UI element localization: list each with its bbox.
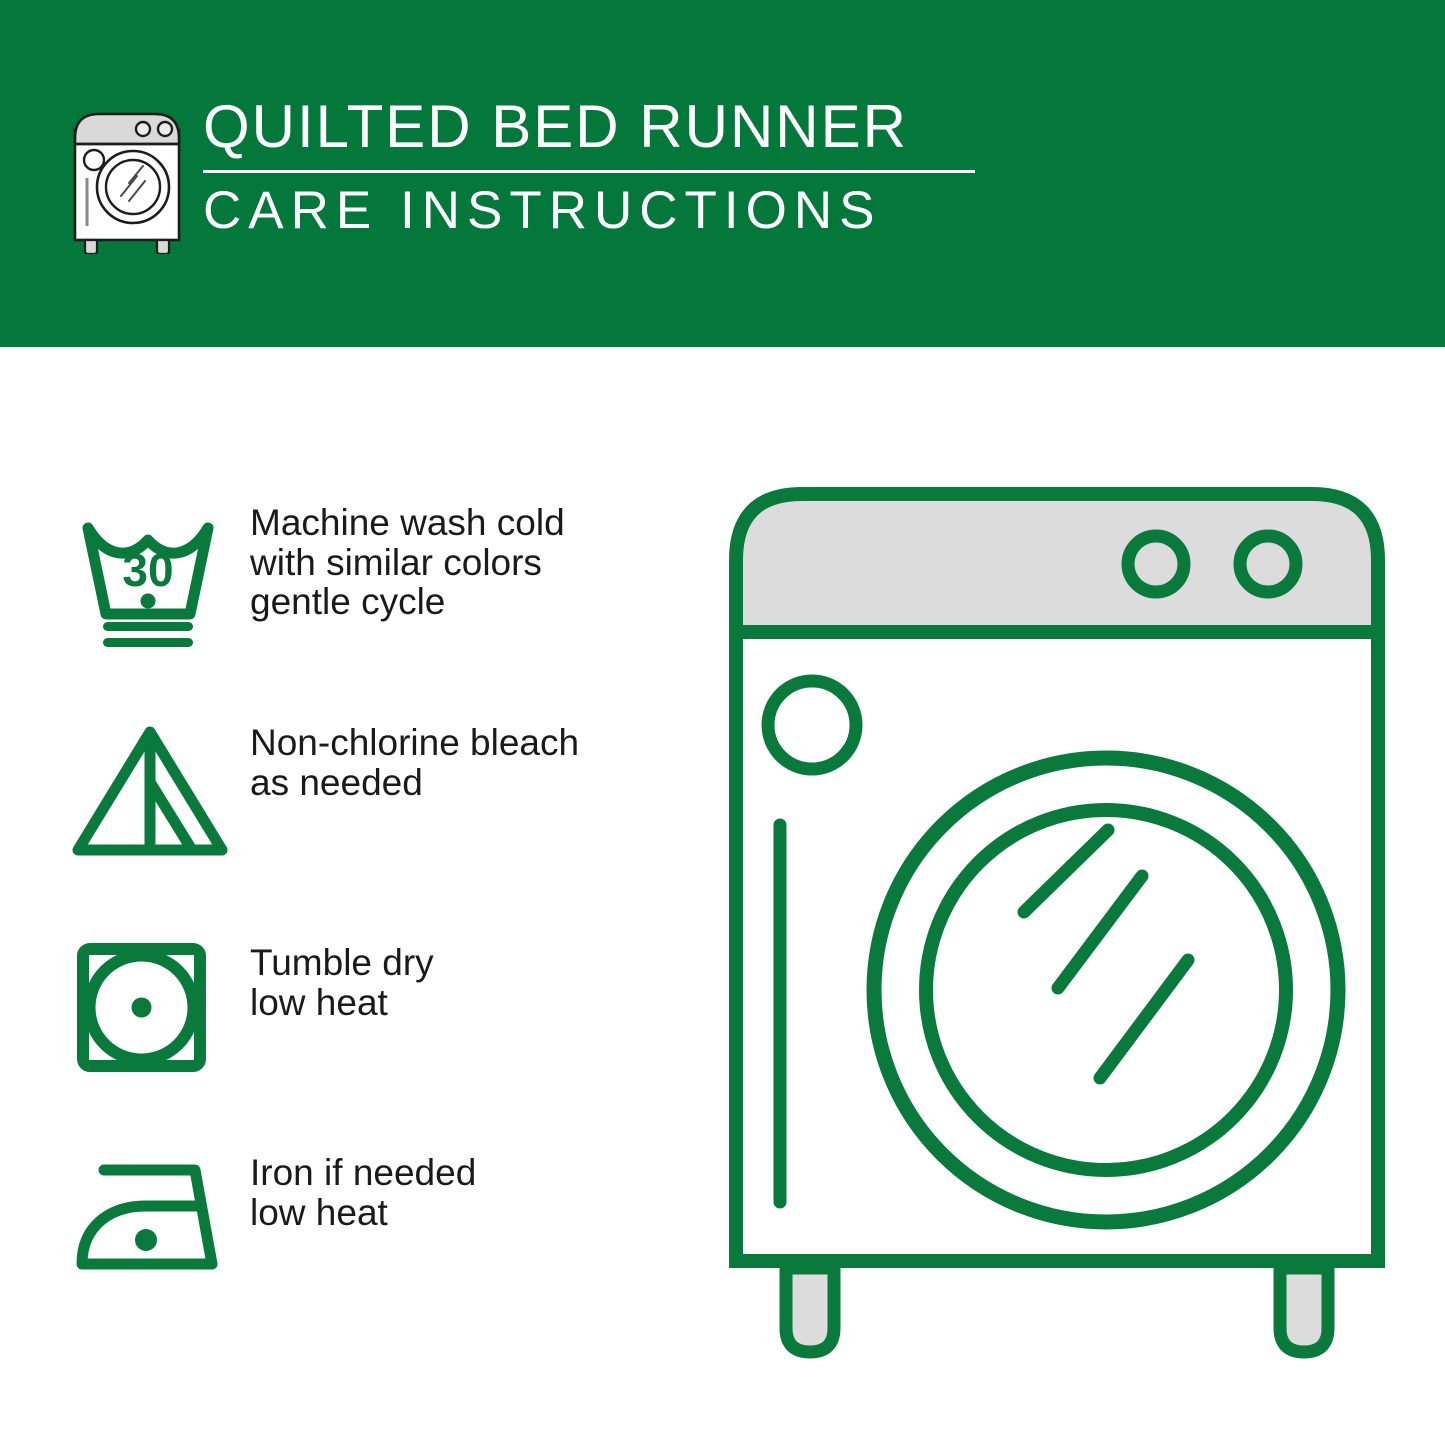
leg-right <box>1280 1268 1328 1352</box>
door-inner-ring <box>926 810 1286 1170</box>
iron-low-heat-icon <box>70 1152 230 1282</box>
washing-machine-icon <box>67 104 187 254</box>
wash-temperature-label: 30 <box>122 544 173 596</box>
care-row-iron: Iron if needed low heat <box>70 1152 476 1282</box>
knob-right-icon <box>1240 536 1296 592</box>
care-row-machine-wash: 30 Machine wash cold with similar colors… <box>70 502 565 652</box>
page-subtitle: CARE INSTRUCTIONS <box>203 183 993 239</box>
care-label-iron: Iron if needed low heat <box>250 1152 476 1232</box>
care-row-tumble-dry: Tumble dry low heat <box>70 942 434 1072</box>
header-text-block: QUILTED BED RUNNER CARE INSTRUCTIONS <box>203 96 993 239</box>
washing-machine-illustration <box>722 480 1392 1360</box>
knob-left-icon <box>1128 536 1184 592</box>
wash-tub-30-gentle-icon: 30 <box>70 502 230 652</box>
care-label-tumble-dry: Tumble dry low heat <box>250 942 434 1022</box>
care-label-machine-wash: Machine wash cold with similar colors ge… <box>250 502 565 622</box>
non-chlorine-bleach-triangle-icon <box>70 722 230 862</box>
care-label-bleach: Non-chlorine bleach as needed <box>250 722 579 802</box>
page-title: QUILTED BED RUNNER <box>203 96 993 158</box>
title-divider <box>203 170 975 173</box>
care-row-bleach: Non-chlorine bleach as needed <box>70 722 579 862</box>
tumble-dry-low-heat-icon <box>70 942 230 1072</box>
leg-left <box>786 1268 834 1352</box>
header-banner: QUILTED BED RUNNER CARE INSTRUCTIONS <box>0 0 1445 347</box>
care-instructions-page: QUILTED BED RUNNER CARE INSTRUCTIONS 30 <box>0 0 1445 1445</box>
dispenser-icon <box>768 681 856 769</box>
